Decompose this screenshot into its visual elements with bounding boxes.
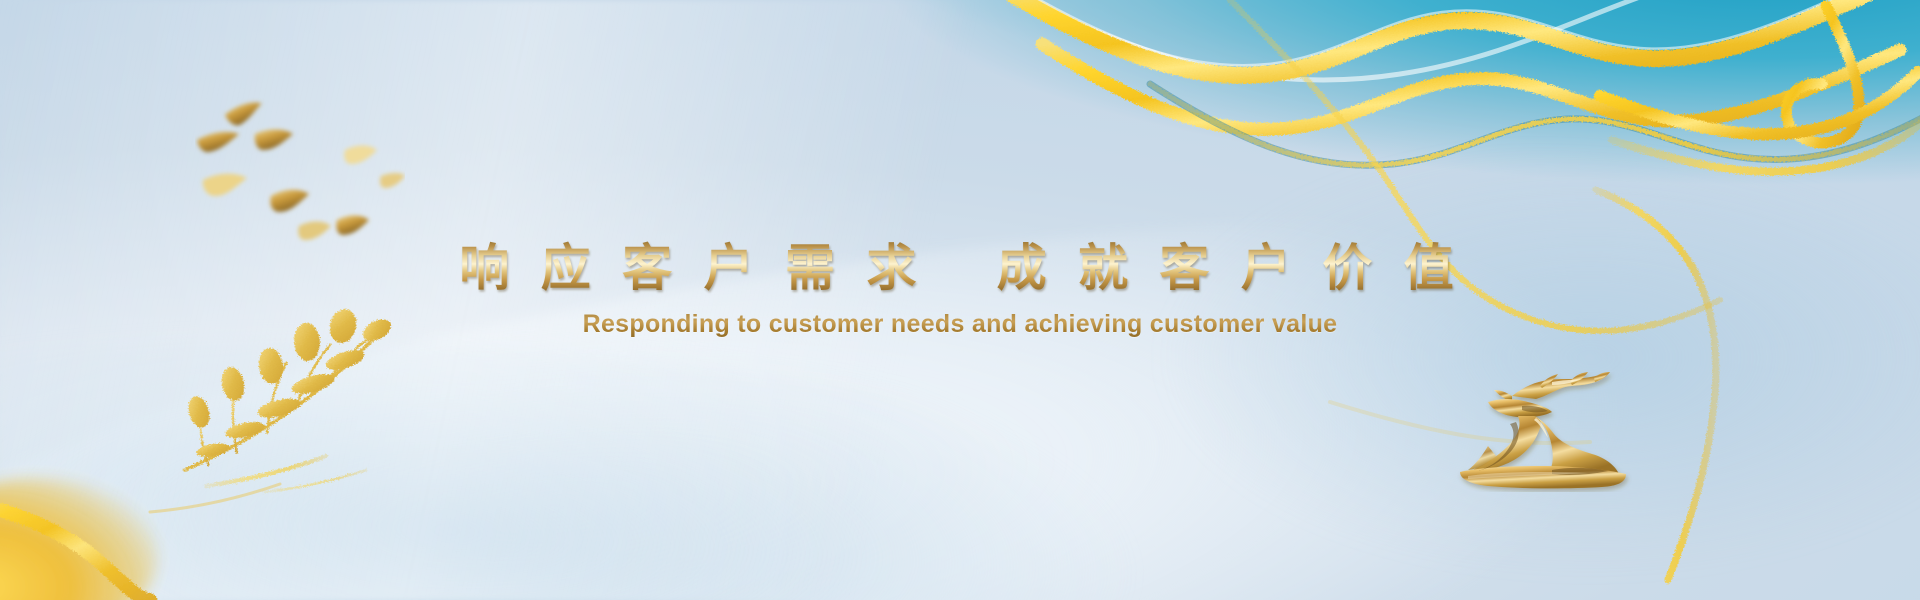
banner-copy: 响 应 客 户 需 求 成 就 客 户 价 值 Responding to cu… (0, 238, 1920, 339)
banner-subtitle-english: Responding to customer needs and achievi… (0, 310, 1920, 339)
banner-headline-chinese: 响 应 客 户 需 求 成 就 客 户 价 值 (0, 238, 1920, 297)
flying-birds-icon (195, 88, 405, 248)
hero-banner: 响 应 客 户 需 求 成 就 客 户 价 值 Responding to cu… (0, 0, 1920, 600)
reclining-deer-sculpture-icon (1448, 372, 1638, 492)
